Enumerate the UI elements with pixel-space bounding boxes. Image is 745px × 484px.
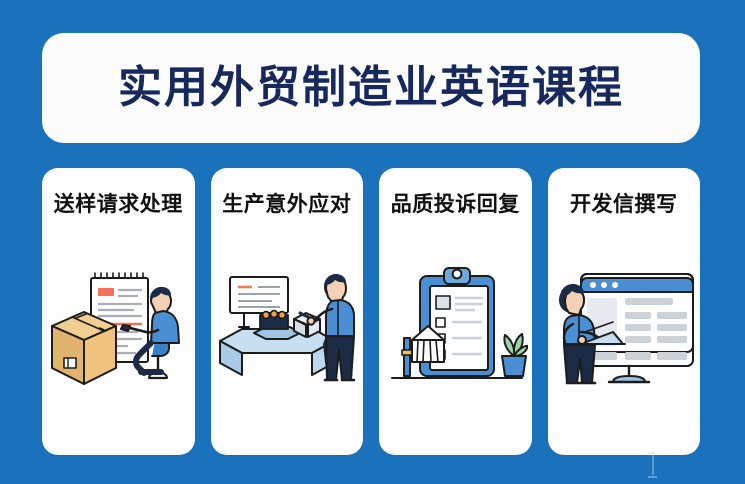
title-banner: 实用外贸制造业英语课程 <box>42 33 700 143</box>
card-illustration <box>548 218 701 455</box>
clipboard-checklist-shop-plant-illustration <box>382 260 528 396</box>
card-title: 生产意外应对 <box>222 188 351 218</box>
feature-card-sample-request[interactable]: 送样请求处理 <box>42 168 195 455</box>
factory-line-whiteboard-person-illustration <box>214 263 360 393</box>
monitor-browser-person-laptop-illustration <box>551 262 697 394</box>
box-document-person-at-desk-illustration <box>46 258 190 398</box>
card-illustration <box>42 218 195 455</box>
cardboard-box-icon <box>52 312 116 384</box>
feature-card-row: 送样请求处理 <box>42 168 700 455</box>
card-title: 开发信撰写 <box>570 188 678 218</box>
feature-card-quality-complaint[interactable]: 品质投诉回复 <box>379 168 532 455</box>
page-title: 实用外贸制造业英语课程 <box>118 66 624 110</box>
card-title: 品质投诉回复 <box>391 188 520 218</box>
text-cursor-artifact <box>648 452 657 478</box>
potted-plant-icon <box>502 334 528 376</box>
card-title: 送样请求处理 <box>54 188 183 218</box>
poster-canvas: 实用外贸制造业英语课程 送样请求处理 <box>0 0 745 484</box>
card-illustration <box>211 218 364 455</box>
browser-window-icon <box>581 278 693 292</box>
feature-card-production-incident[interactable]: 生产意外应对 <box>211 168 364 455</box>
card-illustration <box>379 218 532 455</box>
feature-card-outreach-email[interactable]: 开发信撰写 <box>548 168 701 455</box>
